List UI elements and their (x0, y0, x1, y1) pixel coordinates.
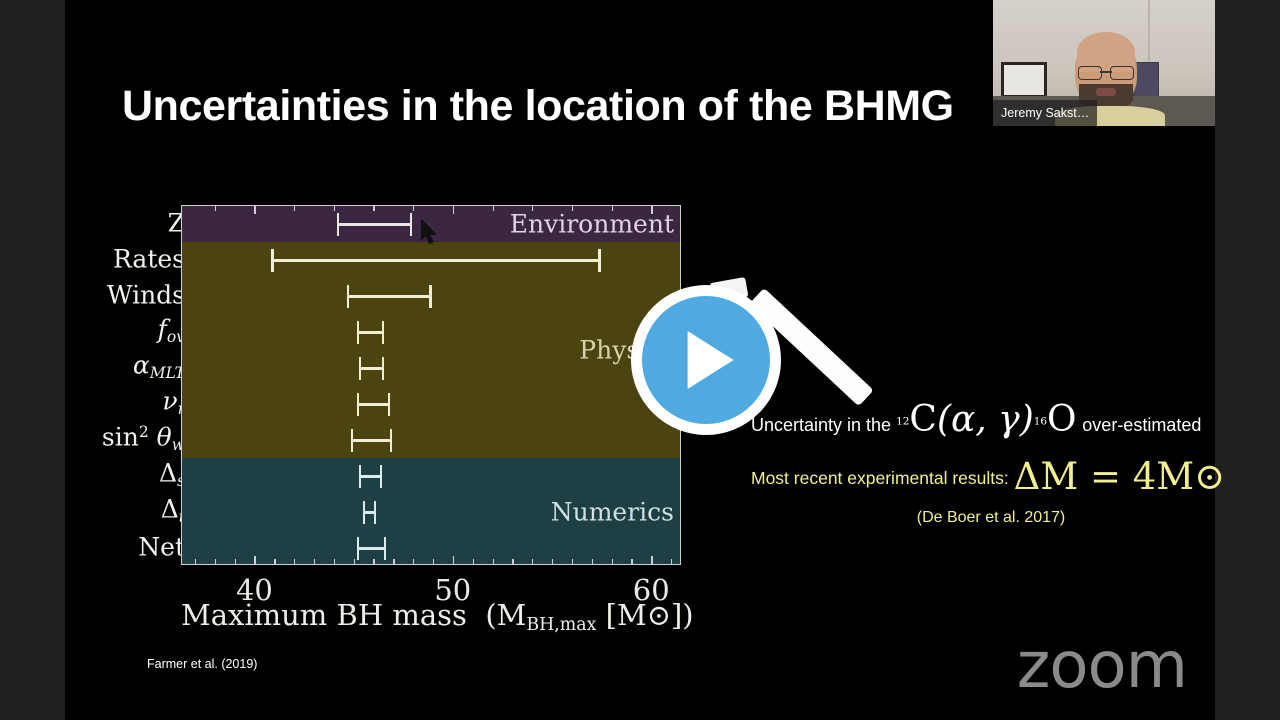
x-tick-top-38 (215, 205, 216, 211)
x-minor-tick-55 (552, 559, 553, 565)
x-tick-top-42 (294, 205, 295, 211)
play-triangle-icon (688, 331, 734, 389)
slide-canvas: Uncertainties in the location of the BHM… (65, 0, 1215, 720)
y-axis-label-rates: Rates (113, 247, 185, 272)
x-tick-top-54 (532, 205, 533, 211)
band-label-numerics: Numerics (551, 498, 674, 527)
x-minor-tick-49 (433, 559, 434, 565)
y-axis-label-sin-2-theta-w: sin2 θw (102, 425, 185, 454)
zoom-watermark: zoom (1017, 634, 1187, 698)
x-tick-52 (493, 559, 494, 565)
x-tick-top-40 (254, 205, 256, 214)
x-minor-tick-47 (393, 559, 394, 565)
x-tick-top-50 (453, 205, 455, 214)
x-minor-tick-57 (592, 559, 593, 565)
x-tick-top-60 (651, 205, 653, 214)
play-button[interactable] (631, 285, 781, 435)
x-minor-tick-51 (473, 559, 474, 565)
x-minor-tick-61 (671, 559, 672, 565)
annotation-line-1: Uncertainty in the 12C(α, γ)16O over-est… (751, 402, 1280, 438)
x-tick-50 (453, 556, 455, 565)
y-axis-labels: ZRatesWindsfovαMLTνrsin2 θwΔsΔtNet (75, 205, 185, 565)
x-tick-38 (215, 559, 216, 565)
x-tick-top-48 (413, 205, 414, 211)
x-minor-tick-39 (235, 559, 236, 565)
glasses-icon (1077, 66, 1135, 78)
x-tick-top-58 (612, 205, 613, 211)
x-minor-tick-43 (314, 559, 315, 565)
x-minor-tick-45 (354, 559, 355, 565)
y-axis-label-alpha-mlt: αMLT (133, 353, 185, 382)
y-axis-label-net: Net (138, 535, 185, 560)
x-tick-top-52 (493, 205, 494, 211)
plot-area: EnvironmentPhysicsNumerics (181, 205, 681, 565)
wall-picture-left (1001, 62, 1047, 98)
annotation-suffix: over-estimated (1082, 415, 1201, 435)
annotation-prefix: Uncertainty in the (751, 415, 891, 435)
x-tick-56 (572, 559, 573, 565)
zoom-recording-frame: Uncertainties in the location of the BHM… (0, 0, 1280, 720)
band-label-environment: Environment (510, 210, 674, 239)
x-minor-tick-41 (274, 559, 275, 565)
x-tick-60 (651, 556, 653, 565)
x-minor-tick-59 (631, 559, 632, 565)
annotation-line-2: Most recent experimental results: ΔM = 4… (751, 455, 1280, 498)
participant-name-badge: Jeremy Sakst… (993, 100, 1097, 126)
annotation-block: Uncertainty in the 12C(α, γ)16O over-est… (751, 402, 1280, 527)
isotope-carbon-12: 12C(α, γ)16O (896, 415, 1082, 436)
x-tick-top-56 (572, 205, 573, 211)
x-tick-top-46 (373, 205, 374, 211)
x-tick-44 (334, 559, 335, 565)
participant-video-thumbnail[interactable]: Jeremy Sakst… (993, 0, 1215, 126)
x-tick-58 (612, 559, 613, 565)
y-axis-label-winds: Winds (107, 283, 185, 308)
x-tick-48 (413, 559, 414, 565)
x-tick-46 (373, 559, 374, 565)
x-tick-top-44 (334, 205, 335, 211)
x-minor-tick-53 (512, 559, 513, 565)
annotation-results-label: Most recent experimental results: (751, 468, 1009, 488)
page-title: Uncertainties in the location of the BHM… (122, 82, 1142, 131)
x-tick-40 (254, 556, 256, 565)
annotation-reference: (De Boer et al. 2017) (751, 509, 1231, 527)
x-axis-title: Maximum BH mass (MBH,max [M⊙]) (181, 598, 691, 635)
annotation-delta-m-value: ΔM = 4M⊙ (1014, 455, 1226, 498)
participant-name: Jeremy Sakst… (1001, 106, 1089, 120)
x-tick-54 (532, 559, 533, 565)
source-credit: Farmer et al. (2019) (147, 657, 257, 671)
x-minor-tick-37 (195, 559, 196, 565)
x-tick-42 (294, 559, 295, 565)
